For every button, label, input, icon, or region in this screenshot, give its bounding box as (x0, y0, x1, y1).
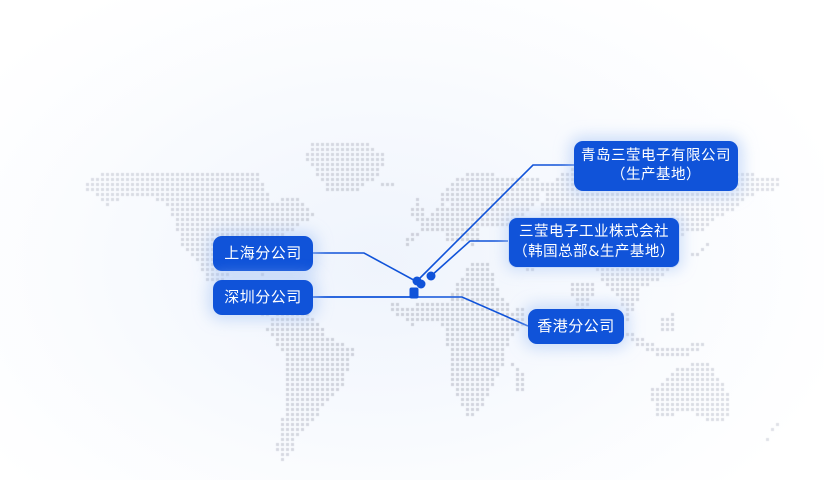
label-hongkong-branch[interactable]: 香港分公司 (528, 309, 624, 344)
map-node-shenzhen[interactable] (410, 288, 419, 299)
label-qingdao-factory[interactable]: 青岛三莹电子有限公司 （生产基地） (574, 141, 738, 191)
infographic-canvas: 青岛三莹电子有限公司 （生产基地） 三莹电子工业株式会社 （韩国总部&生产基地）… (0, 0, 824, 480)
label-korea-line-2: （韩国总部&生产基地） (513, 243, 675, 262)
label-korea-line-1: 三莹电子工业株式会社 (519, 223, 669, 242)
connector-hongkong (414, 297, 528, 326)
label-shanghai-text: 上海分公司 (224, 244, 302, 264)
label-qingdao-line-1: 青岛三莹电子有限公司 (581, 147, 731, 166)
label-shanghai-branch[interactable]: 上海分公司 (213, 236, 313, 271)
label-shenzhen-branch[interactable]: 深圳分公司 (213, 280, 313, 315)
connector-shanghai (313, 253, 421, 284)
label-hongkong-text: 香港分公司 (537, 317, 615, 337)
connector-lines (0, 0, 824, 480)
label-korea-headquarters[interactable]: 三莹电子工业株式会社 （韩国总部&生产基地） (508, 217, 680, 268)
map-node-korea[interactable] (427, 272, 436, 281)
connector-korea (431, 241, 508, 276)
label-qingdao-line-2: （生产基地） (611, 166, 701, 185)
label-shenzhen-text: 深圳分公司 (224, 288, 302, 308)
